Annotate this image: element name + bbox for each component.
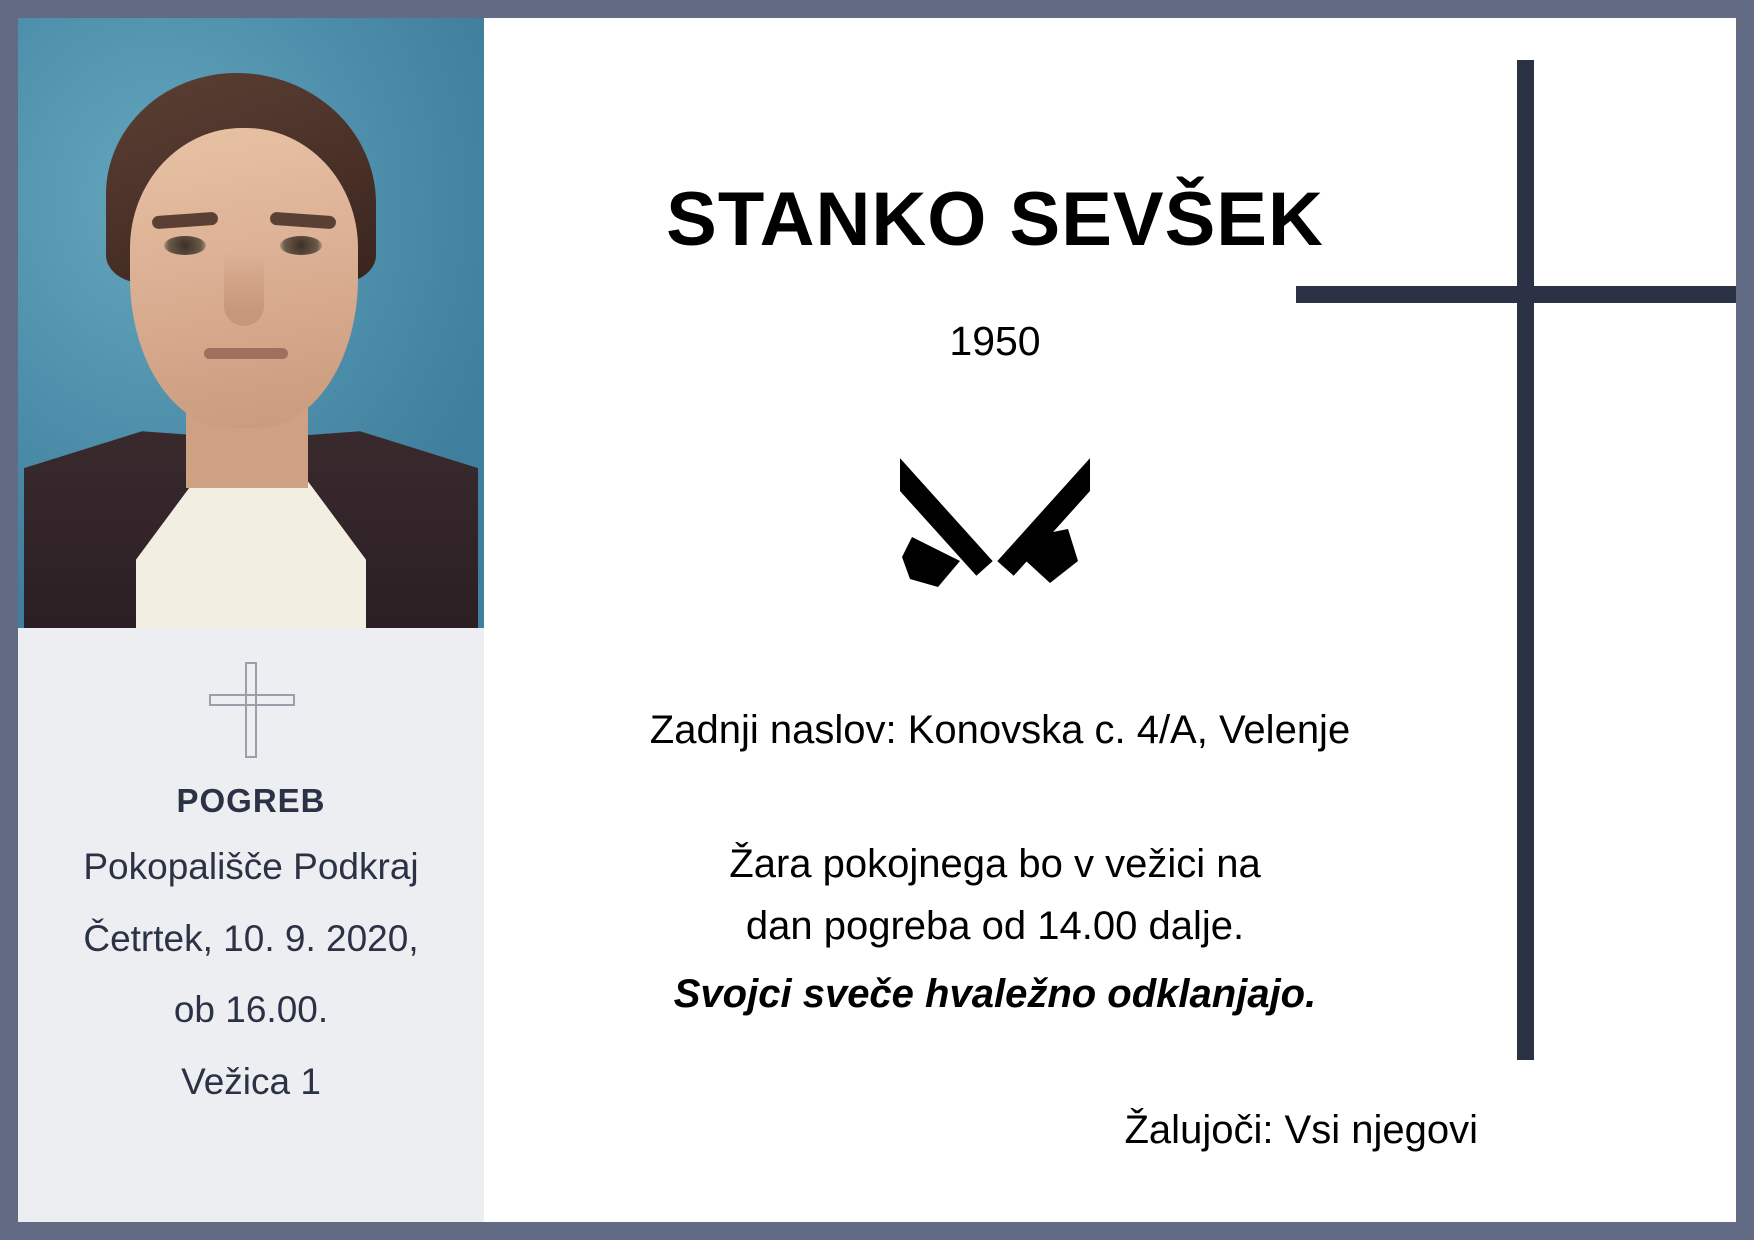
obituary-notice-card: POGREB Pokopališče Podkraj Četrtek, 10. …: [0, 0, 1754, 1240]
funeral-body-text: Žara pokojnega bo v vežici na dan pogreb…: [484, 833, 1506, 1025]
photo-eye-left: [164, 236, 206, 255]
notice-inner: POGREB Pokopališče Podkraj Četrtek, 10. …: [18, 18, 1736, 1222]
photo-mouth: [204, 348, 288, 359]
body-line-2: dan pogreba od 14.00 dalje.: [746, 904, 1244, 948]
funeral-chapel: Vežica 1: [18, 1057, 484, 1107]
right-column: STANKO SEVŠEK 1950 Zadnji n: [484, 18, 1736, 1222]
large-cross-icon-vertical: [1517, 60, 1534, 1060]
funeral-details-panel: POGREB Pokopališče Podkraj Četrtek, 10. …: [18, 628, 484, 1222]
large-cross-icon-horizontal: [1296, 286, 1736, 303]
portrait-photo: [18, 18, 484, 628]
funeral-heading: POGREB: [18, 782, 484, 820]
crossed-mining-hammers-icon: [484, 408, 1506, 598]
photo-eye-right: [280, 236, 322, 255]
last-address: Zadnji naslov: Konovska c. 4/A, Velenje: [484, 708, 1516, 753]
cross-icon: [199, 662, 303, 756]
photo-nose: [224, 254, 264, 326]
cross-icon-horizontal: [209, 694, 295, 706]
deceased-name: STANKO SEVŠEK: [484, 176, 1506, 263]
mourners-line: Žalujoči: Vsi njegovi: [484, 1108, 1478, 1153]
birth-year: 1950: [484, 318, 1506, 365]
funeral-cemetery: Pokopališče Podkraj: [18, 842, 484, 892]
funeral-time: ob 16.00.: [18, 985, 484, 1035]
cross-icon-vertical: [245, 662, 257, 758]
funeral-date: Četrtek, 10. 9. 2020,: [18, 914, 484, 964]
left-column: POGREB Pokopališče Podkraj Četrtek, 10. …: [18, 18, 484, 1222]
body-emphasis: Svojci sveče hvaležno odklanjajo.: [484, 963, 1506, 1025]
body-line-1: Žara pokojnega bo v vežici na: [729, 842, 1260, 886]
